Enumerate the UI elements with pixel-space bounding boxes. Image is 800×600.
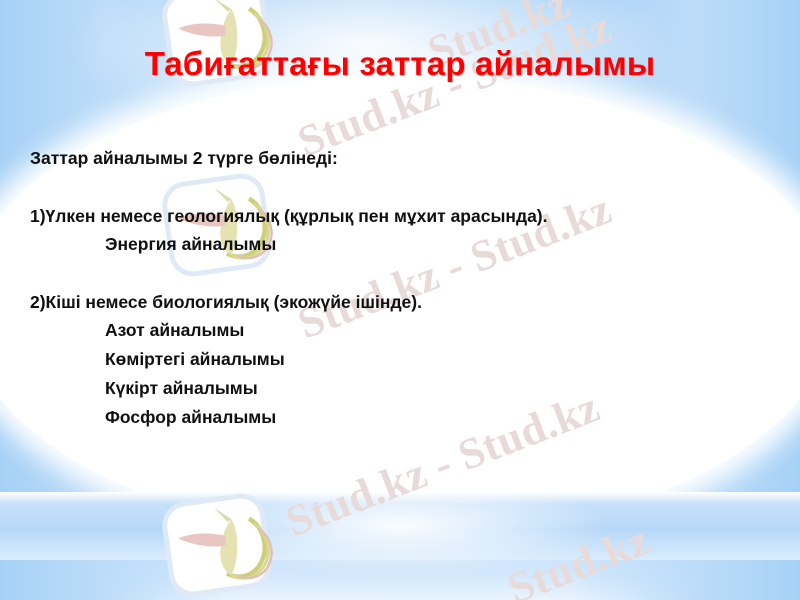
body-line-item-2-sub-3: Күкірт айналымы — [30, 374, 770, 403]
body-line-spacer — [30, 172, 770, 202]
body-line-item-2-sub-2: Көміртегі айналымы — [30, 345, 770, 374]
body-line-intro: Заттар айналымы 2 түрге бөлінеді: — [30, 144, 770, 172]
slide-background-bottom-band — [0, 492, 800, 560]
slide-body-text: Заттар айналымы 2 түрге бөлінеді:1)Үлкен… — [30, 144, 770, 432]
body-line-item-2-sub-4: Фосфор айналымы — [30, 403, 770, 432]
body-line-item-1: 1)Үлкен немесе геологиялық (құрлық пен м… — [30, 202, 770, 230]
body-line-item-1-sub-1: Энергия айналымы — [30, 230, 770, 258]
body-line-item-2-sub-1: Азот айналымы — [30, 316, 770, 345]
body-line-spacer — [30, 258, 770, 288]
presentation-slide: Stud.kzStud.kz - Stud.kzStud.kz - Stud.k… — [0, 0, 800, 600]
body-line-item-2: 2)Кіші немесе биологиялық (экожүйе ішінд… — [30, 288, 770, 316]
slide-title: Табиғаттағы заттар айналымы — [0, 45, 800, 83]
